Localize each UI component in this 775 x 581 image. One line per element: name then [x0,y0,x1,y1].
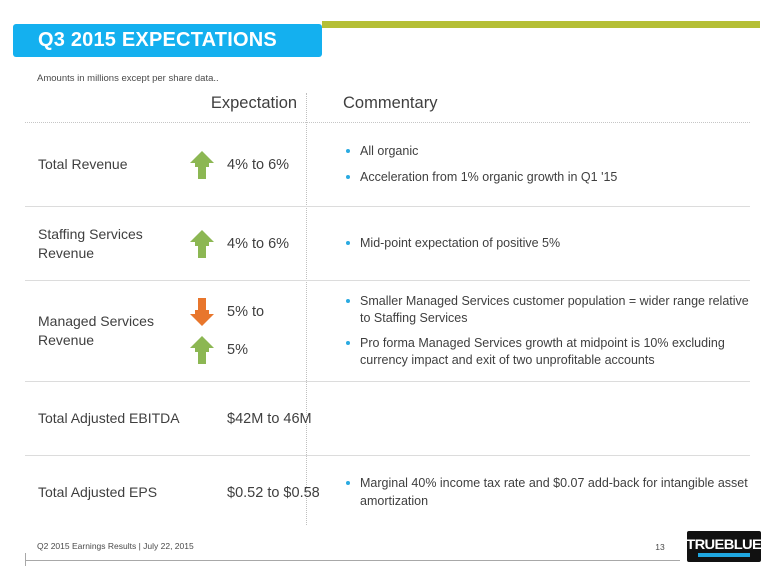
row-expectation: 4% to 6% [184,123,331,206]
trueblue-logo: TRUEBLUE [687,531,761,562]
row-commentary: Smaller Managed Services customer popula… [331,281,750,381]
expectation-value: 4% to 6% [220,236,289,252]
row-commentary: Marginal 40% income tax rate and $0.07 a… [331,456,750,529]
list-item: Pro forma Managed Services growth at mid… [344,335,750,370]
expectation-value: 5% [220,342,248,358]
page-number: 13 [650,542,670,552]
row-label: Managed Services Revenue [25,312,184,350]
title-accent-rule [322,21,760,28]
arrow-down-icon [184,297,220,327]
footer-rule [25,560,680,561]
slide-subtitle: Amounts in millions except per share dat… [37,73,219,84]
column-header-commentary: Commentary [343,94,437,113]
list-item: Acceleration from 1% organic growth in Q… [344,169,750,186]
arrow-up-icon [184,335,220,365]
table-row: Total Adjusted EBITDA $42M to 46M [25,382,750,455]
row-expectation: 4% to 6% [184,207,331,280]
row-expectation: $0.52 to $0.58 [184,456,331,529]
row-commentary: Mid-point expectation of positive 5% [331,207,750,280]
arrow-up-icon [184,229,220,259]
list-item: Marginal 40% income tax rate and $0.07 a… [344,475,750,510]
table-header-row: Expectation Commentary [25,93,750,122]
list-item: Smaller Managed Services customer popula… [344,293,750,328]
column-header-expectation: Expectation [184,94,324,113]
table-row: Total Adjusted EPS $0.52 to $0.58 Margin… [25,456,750,529]
slide-title-banner: Q3 2015 EXPECTATIONS [13,24,322,57]
list-item: All organic [344,143,750,160]
page-title: Q3 2015 EXPECTATIONS [13,29,277,52]
row-expectation: $42M to 46M [184,382,331,455]
row-label: Total Adjusted EBITDA [25,409,184,428]
row-expectation: 5% to 5% [184,281,331,381]
slide-canvas: Q3 2015 EXPECTATIONS Amounts in millions… [0,0,775,581]
expectation-value: 5% to [220,304,264,320]
list-item: Mid-point expectation of positive 5% [344,235,750,252]
table-row: Total Revenue 4% to 6% All organic Accel… [25,123,750,206]
expectations-table: Expectation Commentary Total Revenue 4% … [25,93,750,529]
arrow-up-icon [184,150,220,180]
logo-wordmark: TRUEBLUE [687,537,762,551]
logo-underline [698,553,750,557]
row-label: Staffing Services Revenue [25,225,184,263]
row-label: Total Revenue [25,155,184,174]
expectation-value: $0.52 to $0.58 [220,485,320,501]
table-row: Staffing Services Revenue 4% to 6% Mid-p… [25,207,750,280]
row-commentary: All organic Acceleration from 1% organic… [331,123,750,206]
footer-caption: Q2 2015 Earnings Results | July 22, 2015 [37,541,194,551]
row-label: Total Adjusted EPS [25,483,184,502]
expectation-value: 4% to 6% [220,157,289,173]
table-row: Managed Services Revenue 5% to [25,281,750,381]
row-commentary [331,382,750,455]
expectation-value: $42M to 46M [220,411,312,427]
